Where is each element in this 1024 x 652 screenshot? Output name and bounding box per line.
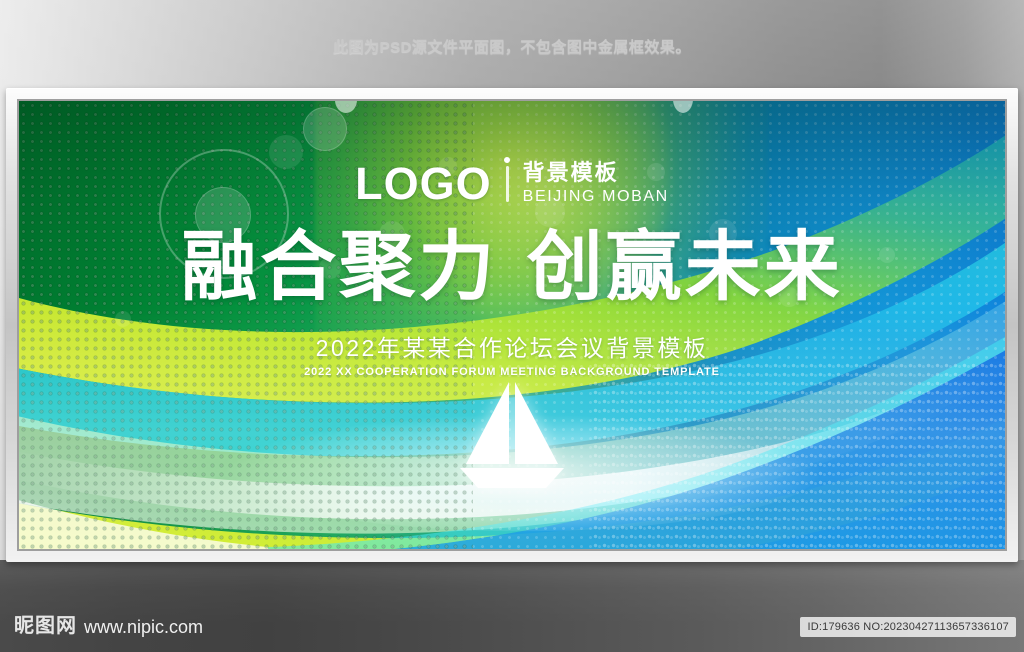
logo-chinese-name: 背景模板	[523, 162, 669, 184]
metal-frame: LOGO 背景模板 BEIJING MOBAN 融合聚力 创赢未来 2022年某…	[6, 88, 1018, 562]
brand-url: www.nipic.com	[84, 618, 203, 636]
bubble-decoration	[303, 107, 347, 151]
psd-notice-text: 此图为PSD源文件平面图，不包含图中金属框效果。	[0, 36, 1024, 57]
logo-pinyin-name: BEIJING MOBAN	[523, 189, 669, 205]
sailboat-icon	[452, 380, 572, 492]
logo-wordmark: LOGO	[355, 161, 492, 206]
asset-id-badge: ID:179636 NO:20230427113657336107	[800, 617, 1016, 637]
logo-text-group: 背景模板 BEIJING MOBAN	[523, 162, 669, 205]
bubble-decoration	[115, 311, 131, 327]
page-background-lower	[0, 560, 1024, 652]
logo-block: LOGO 背景模板 BEIJING MOBAN	[19, 161, 1005, 206]
screenshot-root: 此图为PSD源文件平面图，不包含图中金属框效果。	[0, 0, 1024, 652]
brand-name-cn: 昵图网	[14, 616, 77, 636]
logo-divider-icon	[506, 166, 509, 202]
site-brand: 昵图网 www.nipic.com	[14, 616, 203, 636]
subtitle-english: 2022 XX COOPERATION FORUM MEETING BACKGR…	[19, 366, 1005, 378]
banner-headline: 融合聚力 创赢未来	[19, 229, 1005, 305]
banner-canvas: LOGO 背景模板 BEIJING MOBAN 融合聚力 创赢未来 2022年某…	[17, 99, 1007, 551]
banner-subtitle-group: 2022年某某合作论坛会议背景模板 2022 XX COOPERATION FO…	[19, 335, 1005, 378]
subtitle-chinese: 2022年某某合作论坛会议背景模板	[19, 335, 1005, 361]
